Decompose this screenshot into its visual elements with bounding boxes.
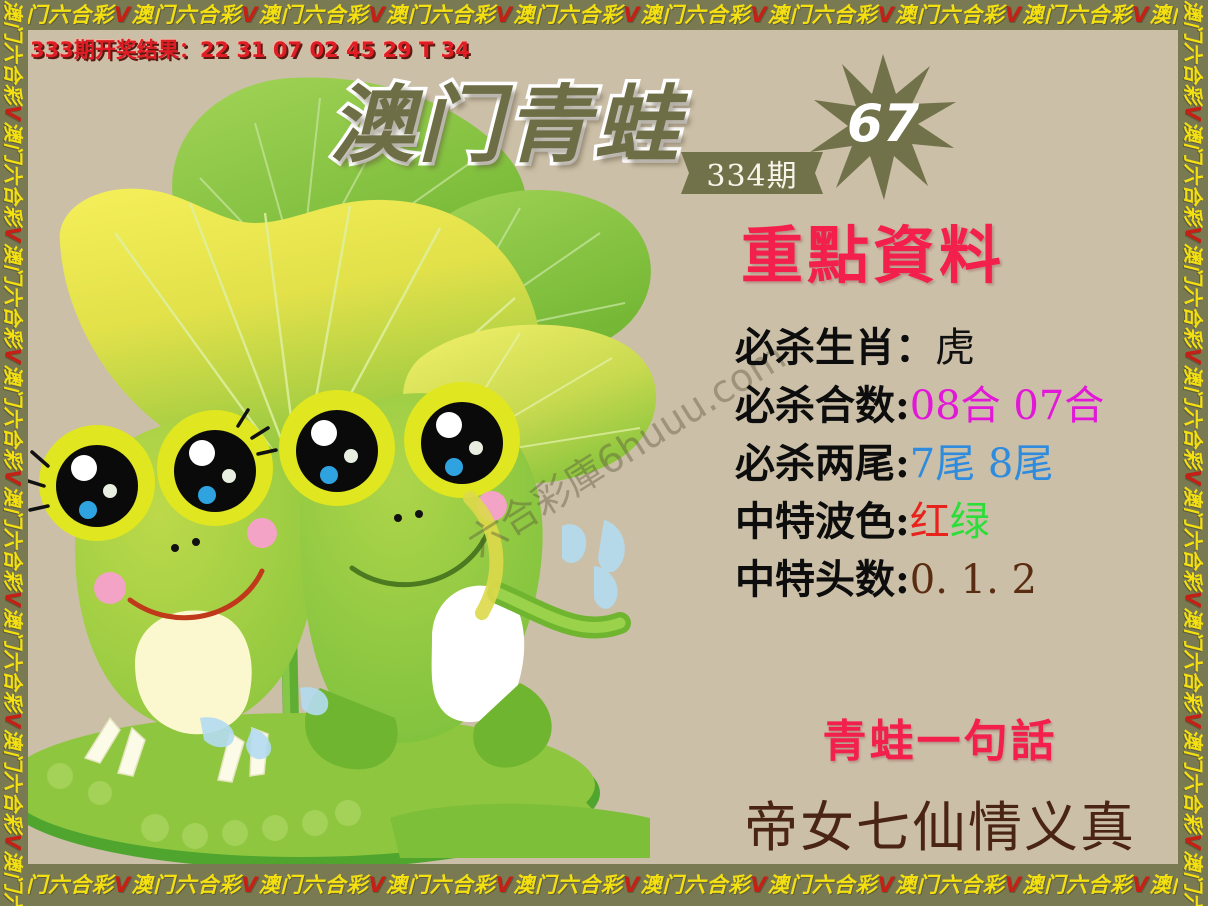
prediction-row-value: 虎 xyxy=(935,325,975,371)
phrase-block: 青蛙一句話 帝女七仙情义真 xyxy=(690,705,1190,862)
poster-root: 六合彩庫6huuu.com 67 澳门青蛙 334期 333期开奖结果：22 3… xyxy=(0,0,1208,906)
prediction-row-label: 中特头数: xyxy=(735,556,910,603)
prediction-row: 必杀生肖：虎 xyxy=(735,319,1205,377)
border-left: 澳门六合彩V澳门六合彩V澳门六合彩V澳门六合彩V澳门六合彩V澳门六合彩V澳门六合… xyxy=(0,0,28,906)
border-right-text: 澳门六合彩V澳门六合彩V澳门六合彩V澳门六合彩V澳门六合彩V澳门六合彩V澳门六合… xyxy=(1180,0,1206,906)
phrase-body: 帝女七仙情义真 xyxy=(690,783,1190,862)
prediction-row-value: 绿 xyxy=(950,499,990,545)
lily-pad-right xyxy=(390,804,650,858)
border-bottom-text: 澳门六合彩V澳门六合彩V澳门六合彩V澳门六合彩V澳门六合彩V澳门六合彩V澳门六合… xyxy=(0,864,1208,906)
prediction-row: 必杀两尾:7尾 8尾 xyxy=(735,435,1205,493)
issue-banner: 334期 xyxy=(677,148,827,198)
panel-heading: 重點資料 xyxy=(741,205,1205,295)
issue-label: 334期 xyxy=(677,148,827,198)
prediction-row-label: 必杀两尾: xyxy=(735,440,910,487)
prediction-row-value: 7尾 8尾 xyxy=(910,441,1054,487)
page-title: 澳门青蛙 xyxy=(330,58,682,179)
starburst-number: 67 xyxy=(808,52,958,202)
info-panel: 重點資料 必杀生肖：虎必杀合数:08合 07合必杀两尾:7尾 8尾中特波色:红绿… xyxy=(735,205,1205,609)
draw-results-line: 333期开奖结果：22 31 07 02 45 29 T 34 xyxy=(30,34,470,64)
border-bottom: 澳门六合彩V澳门六合彩V澳门六合彩V澳门六合彩V澳门六合彩V澳门六合彩V澳门六合… xyxy=(0,864,1208,906)
prediction-row-label: 必杀生肖： xyxy=(735,324,935,371)
border-top-text: 澳门六合彩V澳门六合彩V澳门六合彩V澳门六合彩V澳门六合彩V澳门六合彩V澳门六合… xyxy=(0,0,1208,30)
prediction-row: 必杀合数:08合 07合 xyxy=(735,377,1205,435)
border-top: 澳门六合彩V澳门六合彩V澳门六合彩V澳门六合彩V澳门六合彩V澳门六合彩V澳门六合… xyxy=(0,0,1208,30)
prediction-row-label: 必杀合数: xyxy=(735,382,910,429)
prediction-row-value: 红 xyxy=(910,499,950,545)
prediction-rows: 必杀生肖：虎必杀合数:08合 07合必杀两尾:7尾 8尾中特波色:红绿中特头数:… xyxy=(735,319,1205,609)
border-right: 澳门六合彩V澳门六合彩V澳门六合彩V澳门六合彩V澳门六合彩V澳门六合彩V澳门六合… xyxy=(1178,0,1208,906)
prediction-row: 中特波色:红绿 xyxy=(735,493,1205,551)
border-left-text: 澳门六合彩V澳门六合彩V澳门六合彩V澳门六合彩V澳门六合彩V澳门六合彩V澳门六合… xyxy=(0,0,26,906)
phrase-heading: 青蛙一句話 xyxy=(690,705,1190,769)
prediction-row: 中特头数:0. 1. 2 xyxy=(735,551,1205,609)
prediction-row-value: 0. 1. 2 xyxy=(910,557,1037,603)
prediction-row-label: 中特波色: xyxy=(735,498,910,545)
starburst-badge: 67 xyxy=(808,52,958,202)
prediction-row-value: 08合 07合 xyxy=(910,383,1105,429)
